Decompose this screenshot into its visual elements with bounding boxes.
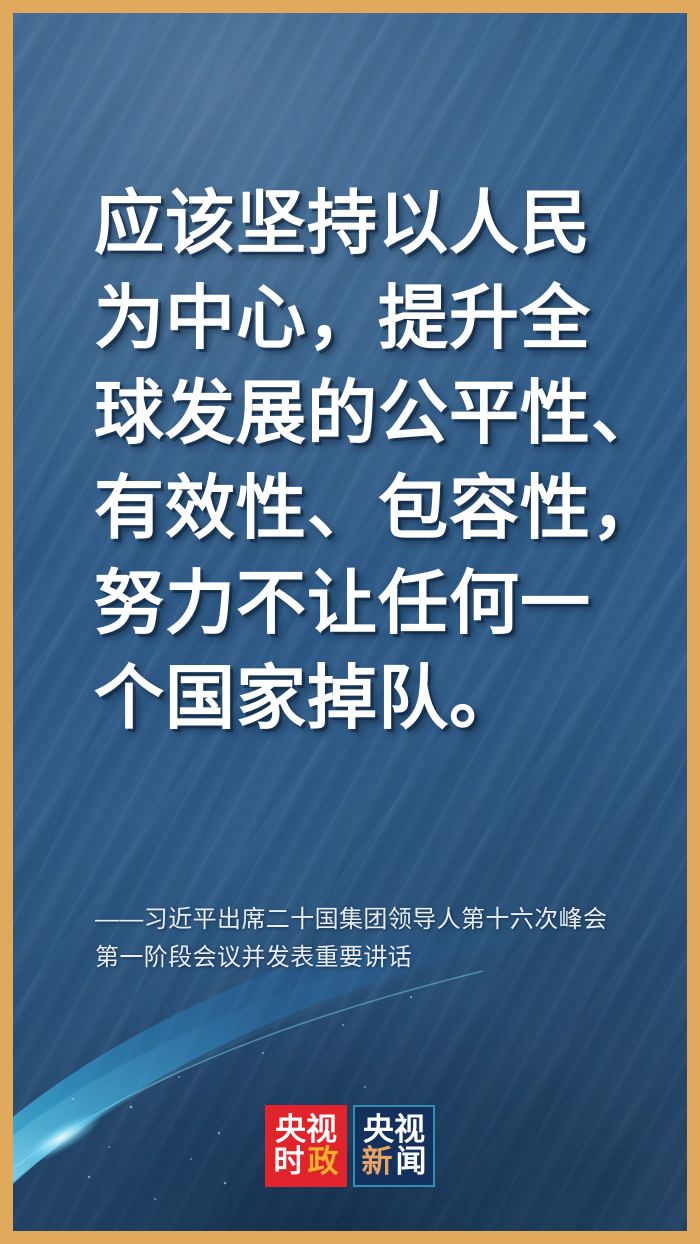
cctv-xinwen-logo[interactable]: 央视 新 闻 bbox=[353, 1105, 435, 1187]
poster-canvas: 应该坚持以人民 为中心，提升全 球发展的公平性、 有效性、包容性， 努力不让任何… bbox=[13, 13, 687, 1231]
headline-line-6: 个国家掉队。 bbox=[94, 651, 634, 746]
headline-line-3: 球发展的公平性、 bbox=[94, 366, 634, 461]
cctv-xinwen-bottom-char-2: 闻 bbox=[396, 1146, 427, 1178]
headline-line-4: 有效性、包容性， bbox=[94, 461, 634, 556]
caption-line-2: 第一阶段会议并发表重要讲话 bbox=[95, 939, 655, 977]
cctv-shizheng-logo[interactable]: 央视 时 政 bbox=[265, 1105, 347, 1187]
poster-frame: 应该坚持以人民 为中心，提升全 球发展的公平性、 有效性、包容性， 努力不让任何… bbox=[0, 0, 700, 1244]
cctv-shizheng-bottom-char-2: 政 bbox=[308, 1146, 339, 1178]
attribution-caption: ——习近平出席二十国集团领导人第十六次峰会 第一阶段会议并发表重要讲话 bbox=[95, 901, 655, 977]
cctv-xinwen-top-row: 央视 bbox=[363, 1114, 425, 1146]
headline-line-2: 为中心，提升全 bbox=[94, 271, 634, 366]
headline-line-1: 应该坚持以人民 bbox=[94, 176, 634, 271]
cctv-xinwen-top-text: 央视 bbox=[363, 1114, 425, 1146]
headline-line-5: 努力不让任何一 bbox=[94, 556, 634, 651]
cctv-shizheng-bottom-char-1: 时 bbox=[274, 1146, 305, 1178]
cctv-xinwen-bottom-row: 新 闻 bbox=[362, 1146, 427, 1178]
caption-line-1: ——习近平出席二十国集团领导人第十六次峰会 bbox=[95, 901, 655, 939]
cctv-shizheng-top-text: 央视 bbox=[275, 1114, 337, 1146]
headline: 应该坚持以人民 为中心，提升全 球发展的公平性、 有效性、包容性， 努力不让任何… bbox=[94, 176, 634, 746]
cctv-shizheng-bottom-row: 时 政 bbox=[274, 1146, 339, 1178]
logo-bar: 央视 时 政 央视 新 闻 bbox=[13, 1105, 687, 1187]
cctv-shizheng-top-row: 央视 bbox=[275, 1114, 337, 1146]
cctv-xinwen-bottom-char-1: 新 bbox=[362, 1146, 393, 1178]
